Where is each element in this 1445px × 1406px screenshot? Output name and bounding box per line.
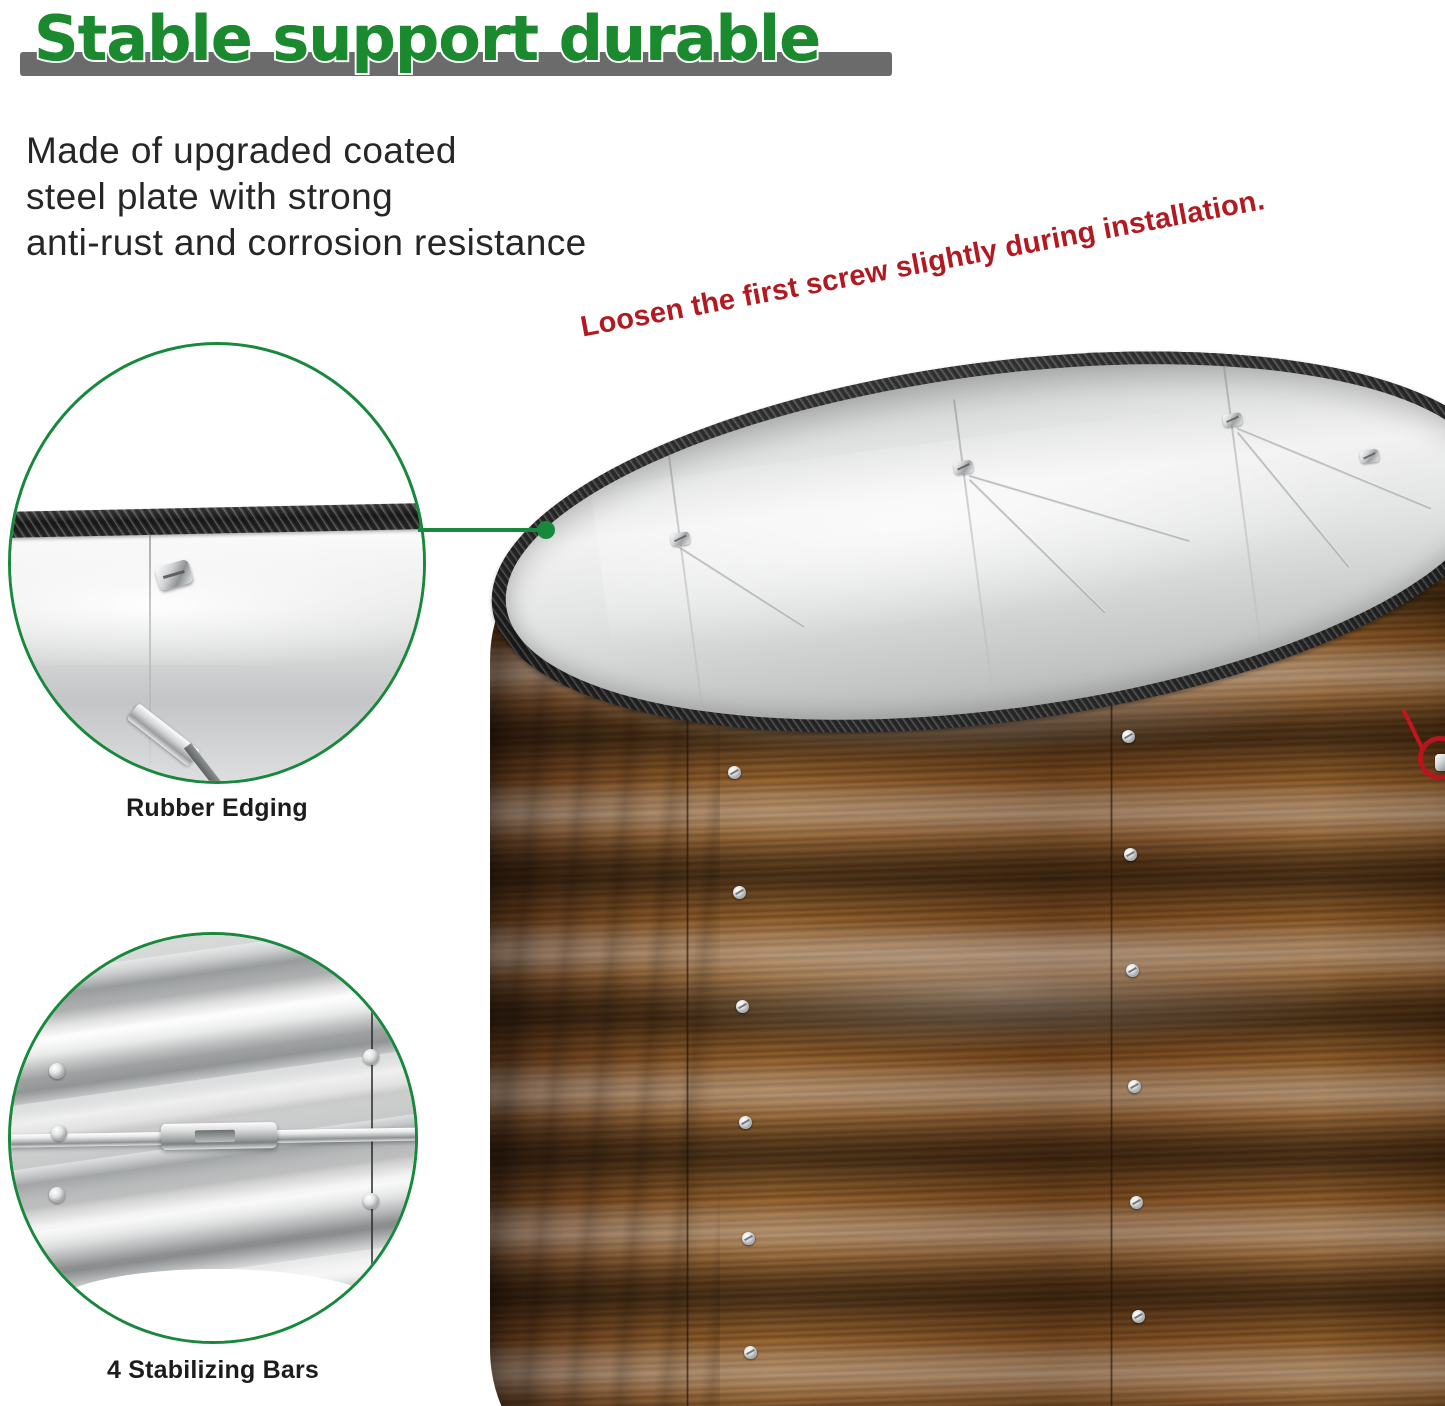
page-title-wrap: Stable support durable Stable support du… — [16, 6, 896, 84]
inset-connector-dot — [537, 521, 555, 539]
interior-screw — [953, 460, 974, 475]
inset-screw — [363, 1193, 379, 1209]
panel-screw — [739, 1116, 752, 1129]
panel-screw — [1130, 1196, 1143, 1209]
inset-rubber-edging: Rubber Edging — [8, 342, 426, 784]
inset-screw — [363, 1049, 379, 1065]
inset-stabilizing-bars: 4 Stabilizing Bars — [8, 932, 418, 1344]
panel-screw — [1126, 964, 1139, 977]
interior-screw — [1359, 449, 1380, 464]
panel-screw — [728, 766, 741, 779]
panel-screw — [744, 1346, 757, 1359]
page-subtitle: Made of upgraded coated steel plate with… — [26, 128, 587, 266]
product-image — [440, 300, 1445, 1406]
panel-screw — [1124, 848, 1137, 861]
interior-screw — [1222, 412, 1243, 427]
inset-screw — [49, 1187, 65, 1203]
inset-metal-gloss — [11, 545, 426, 665]
interior-screw — [670, 531, 691, 546]
first-screw-icon — [1435, 754, 1445, 771]
header-banner: Stable support durable Stable support du… — [0, 0, 1445, 275]
page-title: Stable support durable — [34, 6, 820, 72]
inset-label-stabilizing-bars: 4 Stabilizing Bars — [8, 1356, 418, 1385]
inset-screw — [51, 1125, 67, 1141]
inset-connector-line — [418, 528, 546, 532]
panel-screw — [1128, 1080, 1141, 1093]
inset-circle-outline — [8, 932, 418, 1344]
inset-label-rubber-edging: Rubber Edging — [8, 794, 426, 823]
inset-screw — [49, 1063, 65, 1079]
stabilizing-bar-turnbuckle — [161, 1122, 277, 1150]
panel-screw — [733, 886, 746, 899]
panel-screw — [1122, 730, 1135, 743]
inset-bottom-fade — [51, 1269, 381, 1344]
panel-screw — [736, 1000, 749, 1013]
inset-circle-outline — [8, 342, 426, 784]
panel-screw — [1132, 1310, 1145, 1323]
panel-screw — [742, 1232, 755, 1245]
